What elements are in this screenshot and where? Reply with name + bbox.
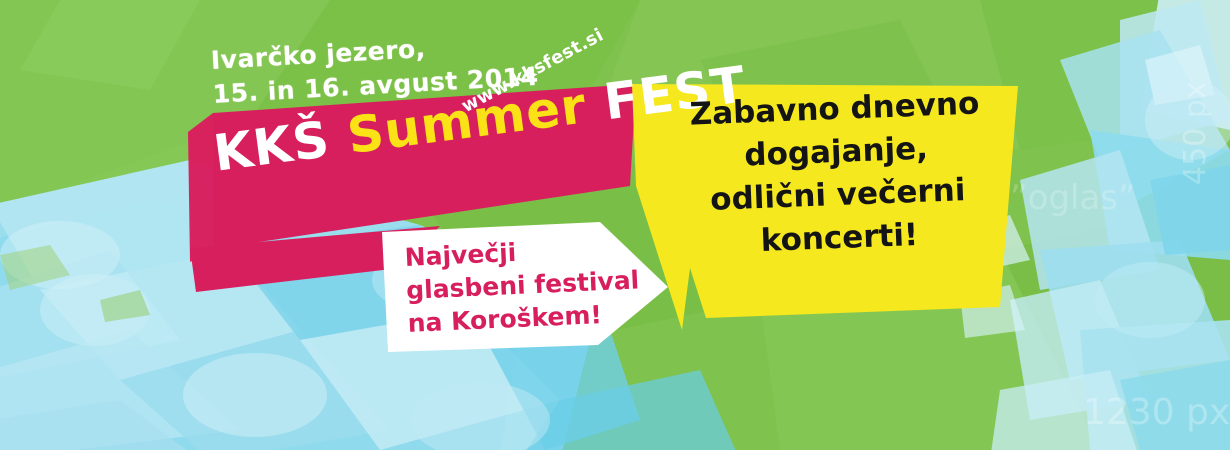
festival-banner: ”oglas” 1230 px 450 px Ivarčko jezero, 1… bbox=[0, 0, 1230, 450]
background-illustration bbox=[0, 0, 1230, 450]
yellow-bubble-text: Zabavno dnevno dogajanje, odlični večern… bbox=[669, 82, 1005, 267]
white-bubble-text: Največji glasbeni festival na Koroškem! bbox=[404, 229, 663, 339]
